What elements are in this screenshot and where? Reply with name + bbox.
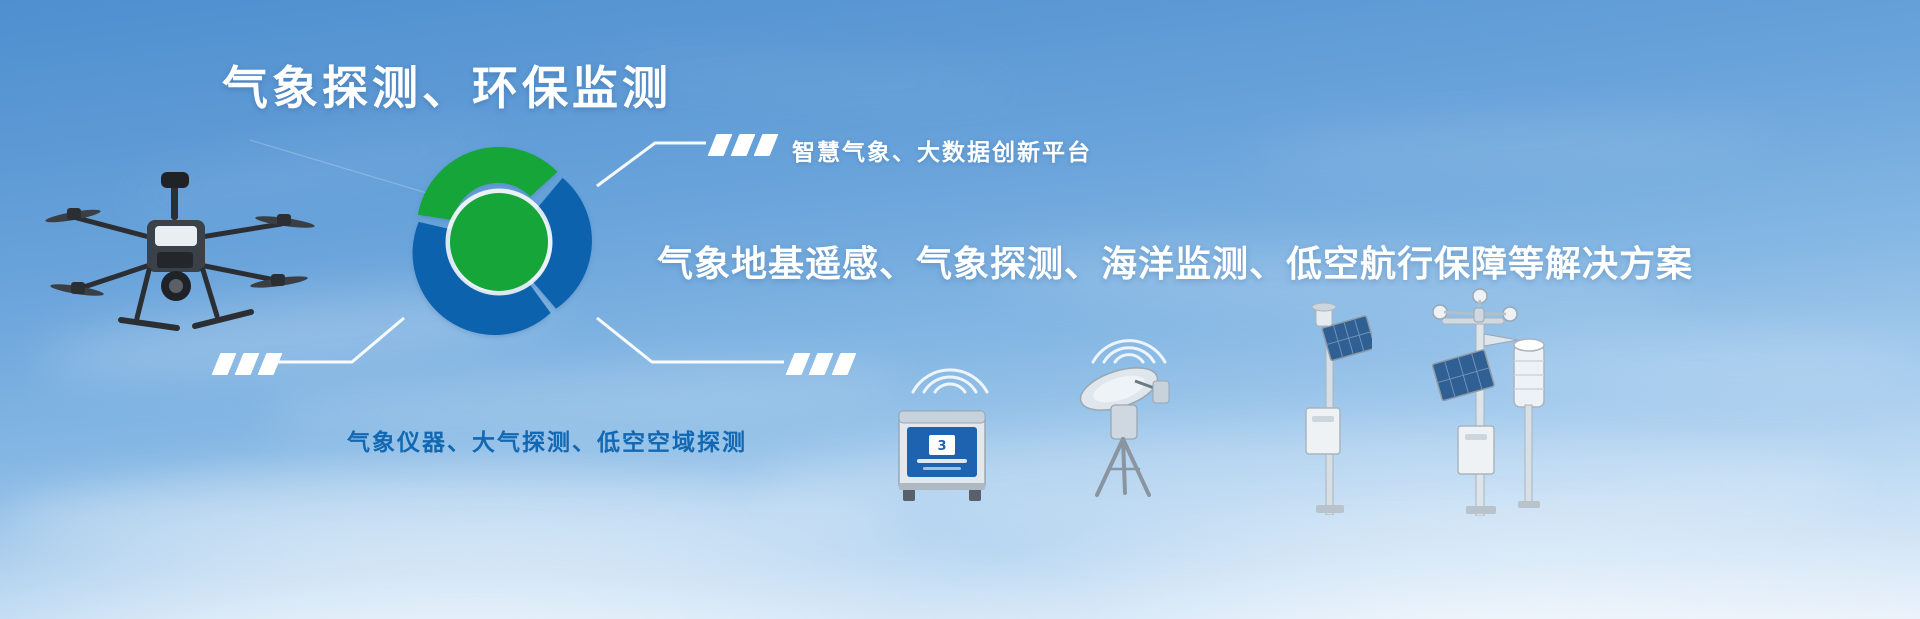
- cloud-wisp: [0, 470, 900, 560]
- signal-waves-cabinet: [905, 326, 995, 398]
- weather-banner: 气象探测、环保监测 智慧气象、大数据创新平台 气象地基遥感、气象探测、海洋监测、…: [0, 0, 1920, 619]
- solar-mast-1-image: [1286, 300, 1372, 515]
- svg-text:3: 3: [937, 439, 946, 454]
- signal-waves-dish: [1083, 300, 1175, 366]
- headline: 气象地基遥感、气象探测、海洋监测、低空航行保障等解决方案: [657, 235, 1693, 287]
- callout-label-bottom: 气象仪器、大气探测、低空空域探测: [347, 423, 747, 457]
- slash-accent-bottom-left: [216, 353, 278, 375]
- cabinet-analyzer-image: 3: [893, 393, 993, 506]
- callout-label-top: 智慧气象、大数据创新平台: [792, 133, 1092, 167]
- dish-radar-image: [1075, 357, 1185, 502]
- drone-image: [45, 160, 315, 345]
- donut-graphic: [390, 133, 608, 351]
- page-title: 气象探测、环保监测: [222, 52, 672, 118]
- slash-accent-bottom-right: [790, 353, 852, 375]
- cloud-wisp: [1249, 111, 1770, 177]
- rain-gauge-image: [1506, 305, 1552, 510]
- slash-accent-top: [712, 134, 774, 156]
- donut-core: [450, 193, 548, 291]
